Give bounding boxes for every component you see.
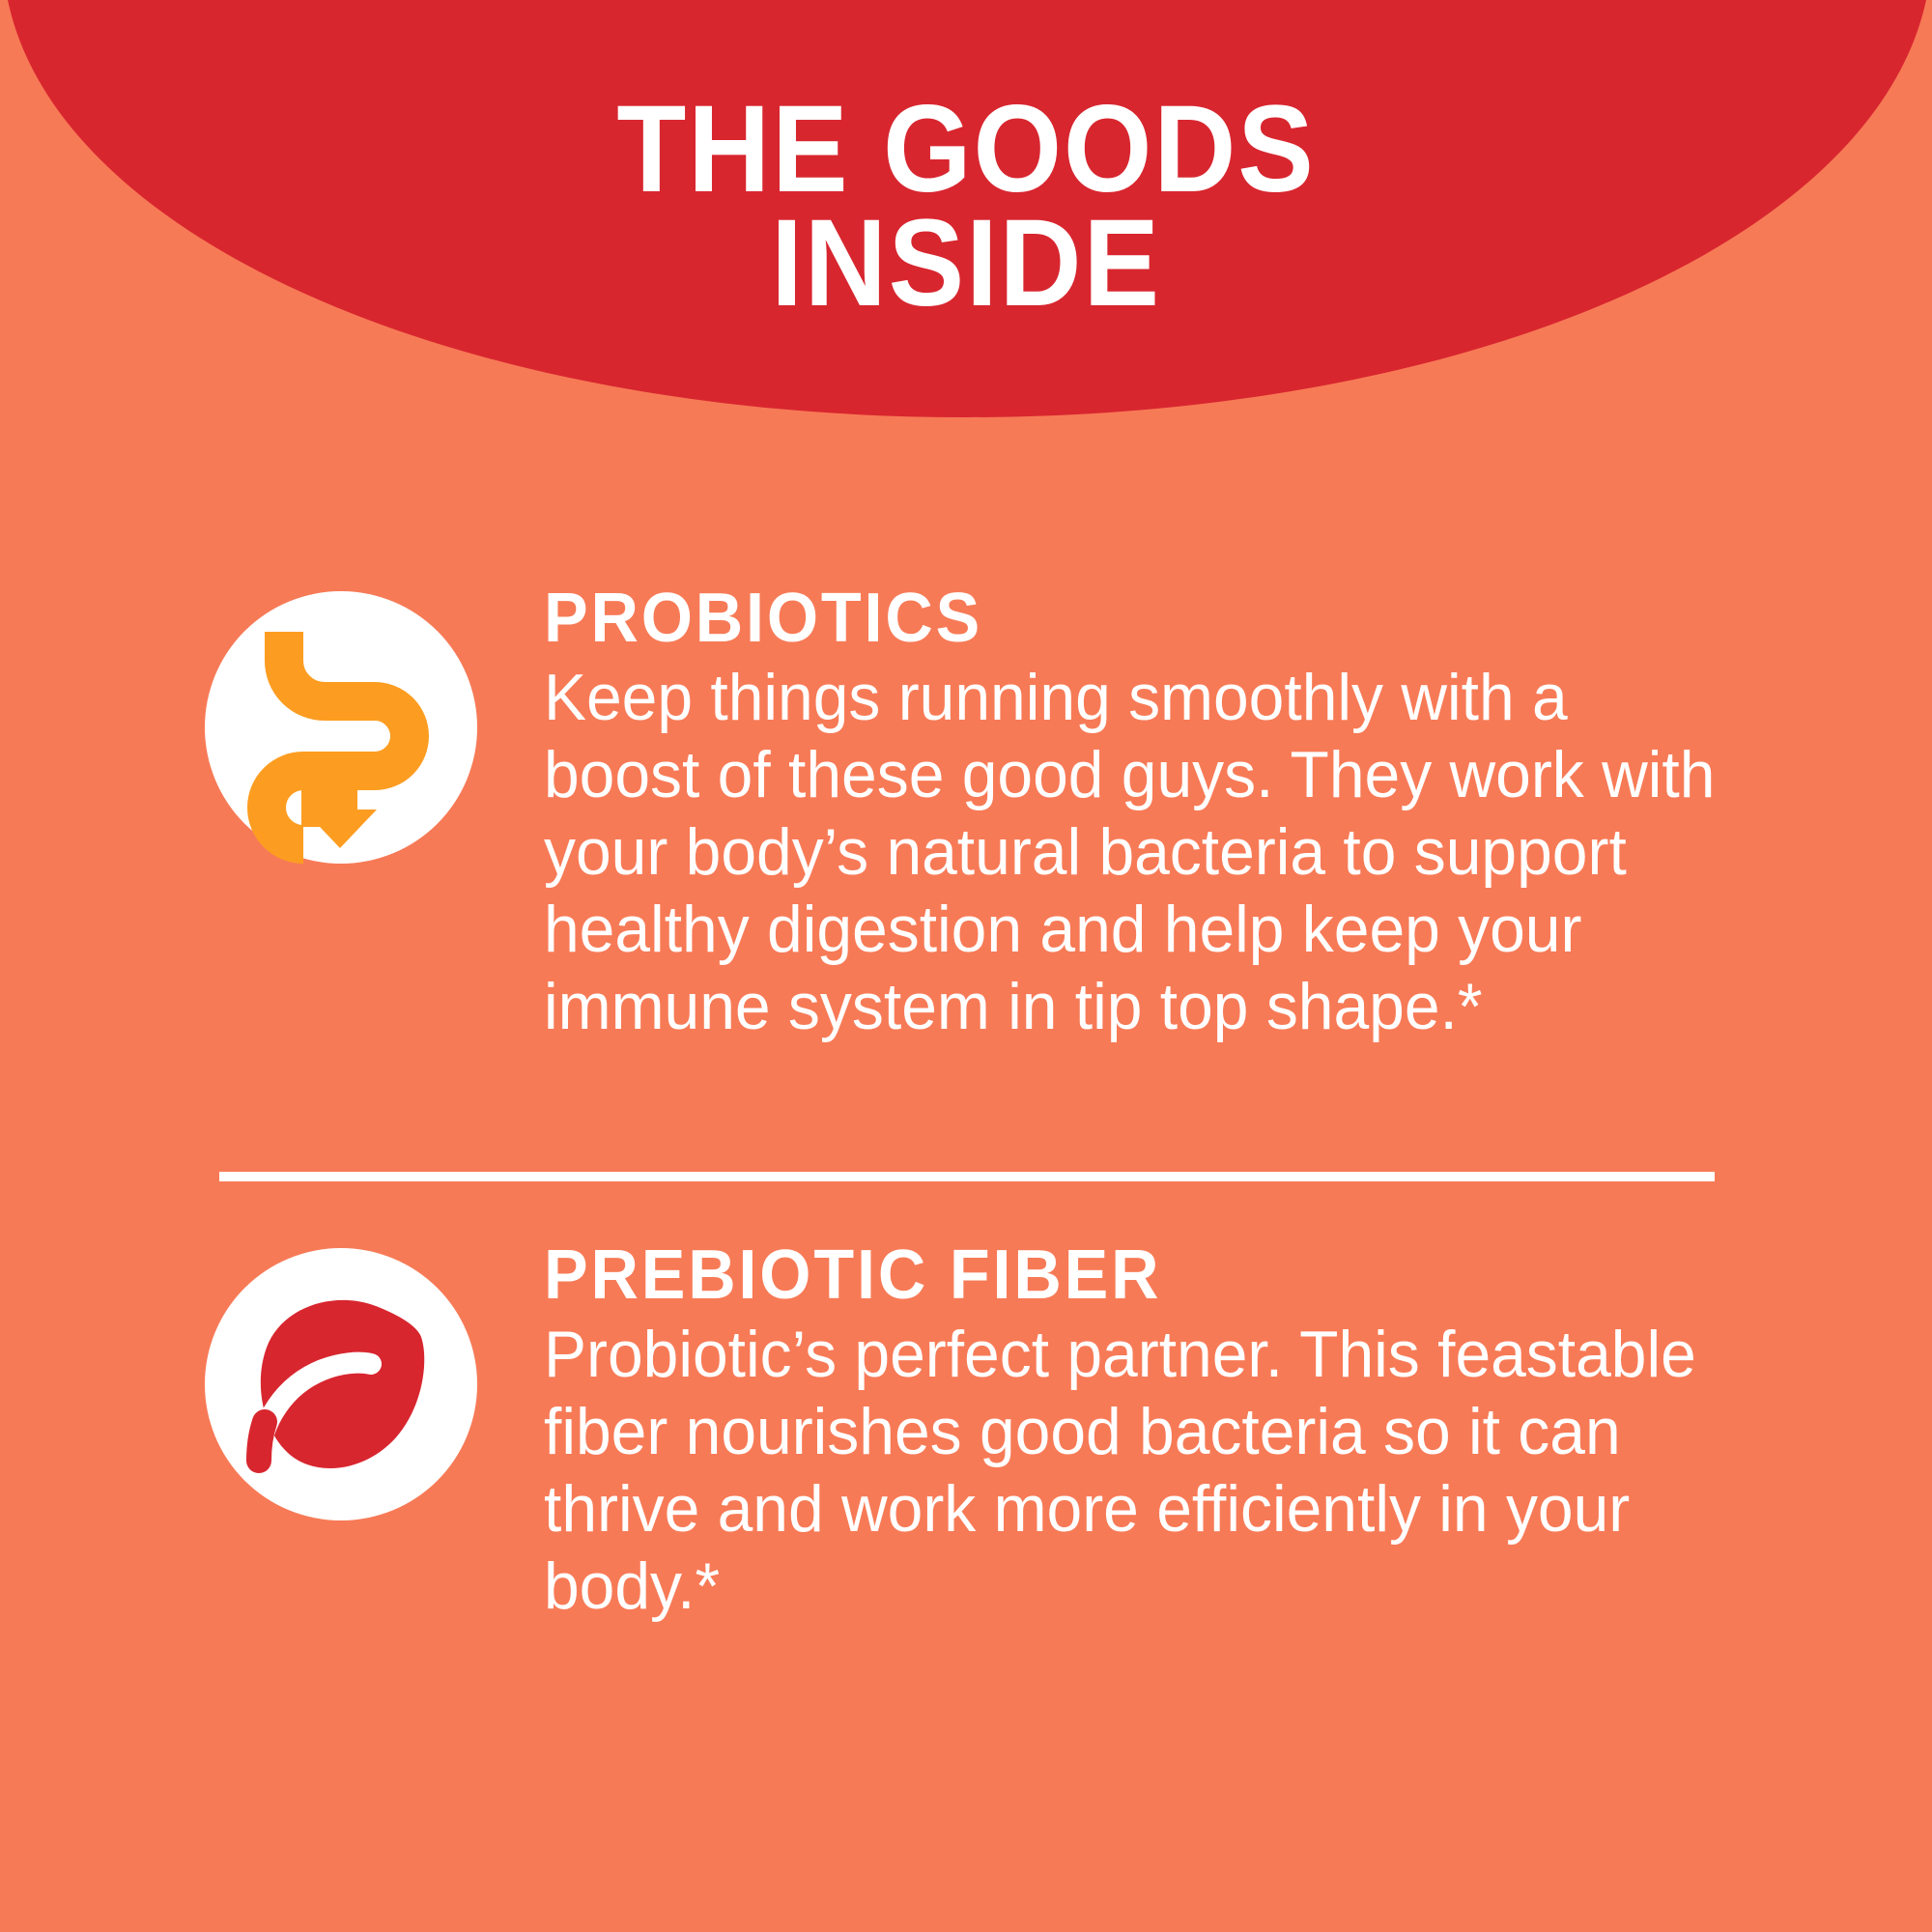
prebiotic-body: Probiotic’s perfect partner. This feasta… <box>544 1316 1716 1625</box>
prebiotic-icon-badge <box>205 1248 477 1520</box>
digestive-tract-icon <box>205 591 477 864</box>
section-divider <box>219 1172 1715 1181</box>
probiotics-body: Keep things running smoothly with a boos… <box>544 659 1716 1045</box>
infographic-canvas: THE GOODS INSIDE <box>0 0 1932 1932</box>
features-content: PROBIOTICS Keep things running smoothly … <box>0 0 1932 1932</box>
leaf-icon <box>205 1248 477 1520</box>
prebiotic-text-block: PREBIOTIC FIBER Probiotic’s perfect part… <box>544 1236 1751 1625</box>
prebiotic-heading: PREBIOTIC FIBER <box>544 1236 1691 1314</box>
probiotics-icon-badge <box>205 591 477 864</box>
probiotics-text-block: PROBIOTICS Keep things running smoothly … <box>544 580 1751 1045</box>
probiotics-heading: PROBIOTICS <box>544 580 1691 657</box>
